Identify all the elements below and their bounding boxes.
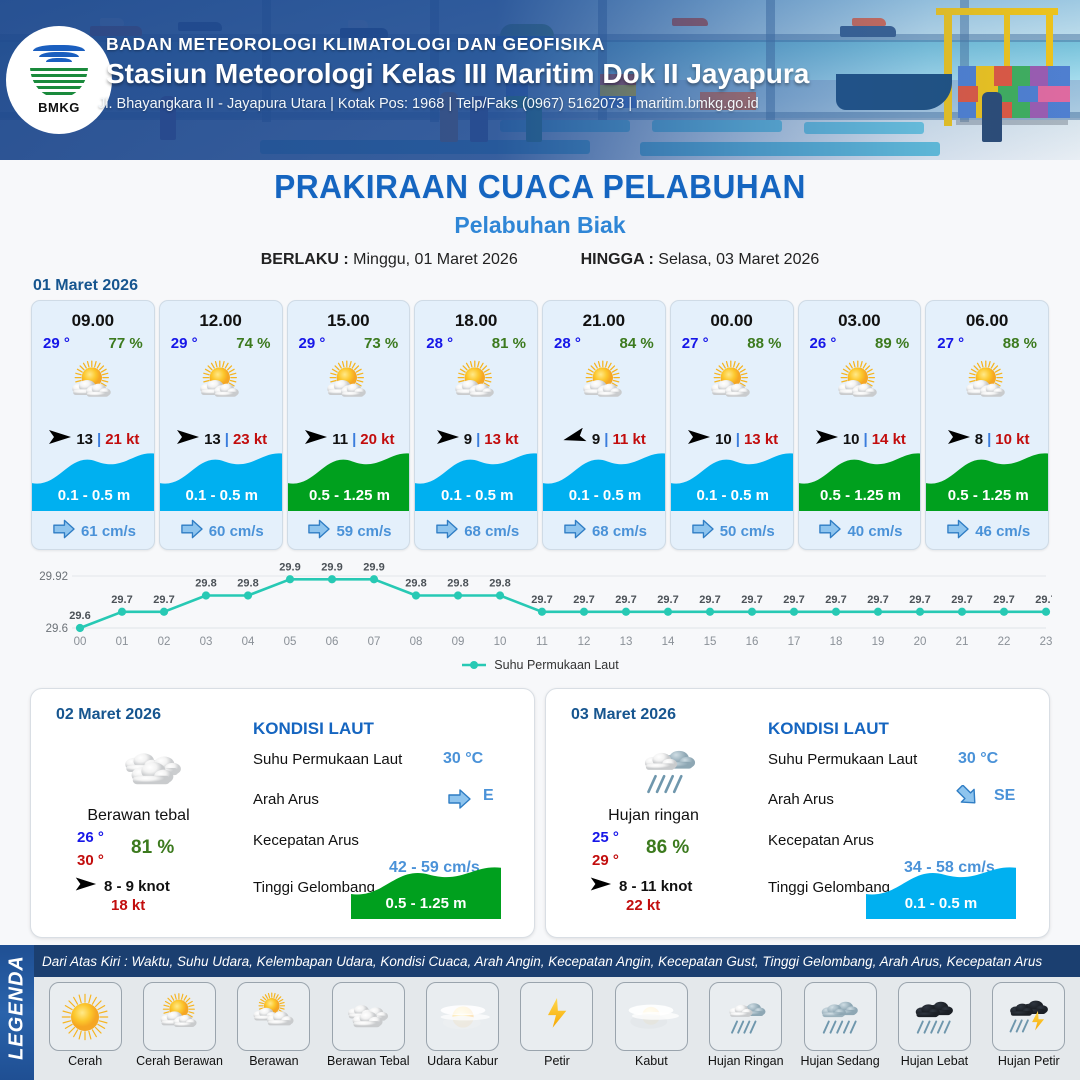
card-temp-hum-row: 27 °88 % [926, 331, 1048, 352]
card-temperature: 29 ° [171, 335, 198, 352]
hingga-value: Selasa, 03 Maret 2026 [658, 251, 819, 268]
card-temperature: 28 ° [554, 335, 581, 352]
udara-kabur-icon [426, 982, 499, 1051]
svg-text:29.7: 29.7 [993, 594, 1014, 606]
svg-text:29.9: 29.9 [279, 561, 300, 573]
legend-item: Cerah Berawan [132, 982, 226, 1069]
day3-temp-max: 29 ° [592, 852, 619, 869]
hujan-lebat-icon [898, 982, 971, 1051]
card-current-speed: 61 cm/s [81, 523, 136, 540]
current-direction-arrow-icon [691, 519, 714, 544]
legend-item-label: Berawan [249, 1055, 298, 1069]
card-temp-hum-row: 29 °73 % [288, 331, 410, 352]
svg-text:23: 23 [1040, 636, 1052, 648]
card-wave-height: 0.5 - 1.25 m [926, 487, 1049, 504]
card-wind-separator: | [864, 431, 868, 448]
day2-current-speed-label: Kecepatan Arus [253, 832, 359, 849]
card-wind-separator: | [736, 431, 740, 448]
svg-text:18: 18 [830, 636, 843, 648]
legend-tab: LEGENDA [0, 945, 34, 1080]
card-humidity: 88 % [1003, 335, 1037, 352]
card-weather-icon [32, 355, 154, 417]
day3-wind-speed: 8 - 11 knot [619, 878, 692, 895]
wind-direction-arrow-icon [813, 428, 839, 451]
day3-date: 03 Maret 2026 [571, 706, 676, 724]
card-current-row: 60 cm/s [160, 519, 283, 544]
card-gust-speed: 21 kt [105, 431, 139, 448]
card-wave-graphic: 0.1 - 0.5 m [160, 453, 283, 511]
svg-text:10: 10 [494, 636, 507, 648]
station-name: Stasiun Meteorologi Kelas III Maritim Do… [106, 58, 809, 90]
svg-text:29.7: 29.7 [909, 594, 930, 606]
card-time: 03.00 [799, 311, 921, 331]
svg-text:03: 03 [200, 636, 213, 648]
card-temperature: 29 ° [299, 335, 326, 352]
svg-text:29.7: 29.7 [741, 594, 762, 606]
card-wave-graphic: 0.5 - 1.25 m [926, 453, 1049, 511]
day2-wind-speed: 8 - 9 knot [104, 878, 170, 895]
card-wind-separator: | [476, 431, 480, 448]
card-time: 12.00 [160, 311, 282, 331]
wind-direction-arrow-icon [588, 875, 612, 898]
legend-item: Berawan [227, 982, 321, 1069]
svg-text:01: 01 [116, 636, 129, 648]
wind-direction-arrow-icon [434, 428, 460, 451]
card-humidity: 89 % [875, 335, 909, 352]
day3-panel: 03 Maret 2026 Hujan ringan 25 ° 29 ° 86 … [545, 688, 1050, 938]
svg-text:06: 06 [326, 636, 339, 648]
card-current-row: 59 cm/s [288, 519, 411, 544]
card-humidity: 73 % [364, 335, 398, 352]
svg-text:05: 05 [284, 636, 297, 648]
card-weather-icon [415, 355, 537, 417]
svg-text:29.7: 29.7 [951, 594, 972, 606]
card-humidity: 81 % [492, 335, 526, 352]
card-wind-speed: 10 [715, 431, 732, 448]
logo-label: BMKG [38, 100, 80, 115]
svg-text:08: 08 [410, 636, 423, 648]
wind-direction-arrow-icon [562, 428, 588, 451]
svg-text:11: 11 [536, 636, 548, 648]
day2-wave-graphic: 0.5 - 1.25 m [351, 867, 501, 919]
legend-item-label: Udara Kabur [427, 1055, 498, 1069]
card-wave-height: 0.1 - 0.5 m [415, 487, 538, 504]
legend-line-marker [461, 659, 487, 671]
title-block: PRAKIRAAN CUACA PELABUHAN Pelabuhan Biak… [0, 168, 1080, 269]
day2-wave-value: 0.5 - 1.25 m [351, 895, 501, 912]
svg-text:29.9: 29.9 [363, 561, 384, 573]
page-subtitle: Pelabuhan Biak [0, 212, 1080, 239]
svg-text:21: 21 [956, 636, 969, 648]
berlaku-value: Minggu, 01 Maret 2026 [353, 251, 518, 268]
sst-chart-panel: 29.9229.629.60029.70129.70229.80329.8042… [28, 558, 1052, 686]
card-wind-row: 11|20 kt [288, 428, 410, 450]
legend-item-label: Petir [544, 1055, 570, 1069]
current-direction-arrow-icon [307, 519, 330, 544]
legend-note: Dari Atas Kiri : Waktu, Suhu Udara, Kele… [34, 954, 1042, 969]
card-time: 15.00 [288, 311, 410, 331]
card-wind-speed: 9 [592, 431, 600, 448]
day2-temp-min: 26 ° [77, 829, 104, 846]
svg-text:29.8: 29.8 [447, 578, 468, 590]
card-current-row: 50 cm/s [671, 519, 794, 544]
forecast-card[interactable]: 12.0029 °74 %13|23 kt0.1 - 0.5 m60 cm/s [159, 300, 283, 550]
card-temperature: 29 ° [43, 335, 70, 352]
kabut-icon [615, 982, 688, 1051]
current-direction-arrow-icon [435, 519, 458, 544]
petir-icon [520, 982, 593, 1051]
card-weather-icon [288, 355, 410, 417]
svg-text:29.7: 29.7 [153, 594, 174, 606]
berlaku-label: BERLAKU : [261, 251, 349, 268]
day2-sst-label: Suhu Permukaan Laut [253, 751, 402, 768]
page-title: PRAKIRAAN CUACA PELABUHAN [22, 168, 1059, 206]
card-wave-height: 0.1 - 0.5 m [671, 487, 794, 504]
card-time: 06.00 [926, 311, 1048, 331]
card-wind-row: 8|10 kt [926, 428, 1048, 450]
card-wind-speed: 9 [464, 431, 472, 448]
legend-icon-list: CerahCerah BerawanBerawanBerawan TebalUd… [34, 977, 1080, 1080]
card-gust-speed: 11 kt [612, 431, 645, 448]
legend-item: Hujan Petir [982, 982, 1076, 1069]
card-wind-row: 13|23 kt [160, 428, 282, 450]
day3-weather-icon [618, 731, 718, 809]
legend-item-label: Hujan Petir [998, 1055, 1060, 1069]
day3-current-speed-label: Kecepatan Arus [768, 832, 874, 849]
card-gust-speed: 13 kt [744, 431, 778, 448]
svg-text:15: 15 [704, 636, 717, 648]
current-direction-arrow-icon [946, 519, 969, 544]
card-weather-icon [543, 355, 665, 417]
card-wind-separator: | [225, 431, 229, 448]
wind-direction-arrow-icon [945, 428, 971, 451]
card-temp-hum-row: 28 °84 % [543, 331, 665, 352]
wind-direction-arrow-icon [174, 428, 200, 451]
svg-text:29.8: 29.8 [489, 578, 510, 590]
legend-section: LEGENDA Dari Atas Kiri : Waktu, Suhu Uda… [0, 945, 1080, 1080]
day3-gust: 22 kt [626, 897, 660, 914]
svg-text:02: 02 [158, 636, 171, 648]
page-header: BMKG BADAN METEOROLOGI KLIMATOLOGI DAN G… [0, 0, 1080, 160]
legend-item-label: Hujan Lebat [901, 1055, 968, 1069]
card-current-speed: 46 cm/s [975, 523, 1030, 540]
bmkg-logo: BMKG [6, 26, 112, 134]
card-temp-hum-row: 29 °74 % [160, 331, 282, 352]
current-direction-arrow-icon [446, 789, 472, 814]
svg-text:29.7: 29.7 [699, 594, 720, 606]
day2-condition: Berawan tebal [31, 807, 246, 825]
card-temperature: 26 ° [810, 335, 837, 352]
card-gust-speed: 23 kt [233, 431, 267, 448]
day3-wave-graphic: 0.1 - 0.5 m [866, 867, 1016, 919]
svg-text:16: 16 [746, 636, 759, 648]
sst-line-chart: 29.9229.629.60029.70129.70229.80329.8042… [28, 558, 1052, 658]
svg-text:14: 14 [662, 636, 675, 648]
day2-weather-icon [103, 731, 203, 809]
legend-item: Hujan Sedang [793, 982, 887, 1069]
card-current-speed: 60 cm/s [209, 523, 264, 540]
card-wind-separator: | [352, 431, 356, 448]
svg-text:29.7: 29.7 [783, 594, 804, 606]
wind-direction-arrow-icon [46, 428, 72, 451]
svg-text:19: 19 [872, 636, 885, 648]
svg-text:29.9: 29.9 [321, 561, 342, 573]
legend-note-strip: Dari Atas Kiri : Waktu, Suhu Udara, Kele… [34, 945, 1080, 977]
forecast-card[interactable]: 09.0029 °77 %13|21 kt0.1 - 0.5 m61 cm/s [31, 300, 155, 550]
svg-text:09: 09 [452, 636, 465, 648]
svg-text:00: 00 [74, 636, 87, 648]
forecast-card[interactable]: 03.0026 °89 %10|14 kt0.5 - 1.25 m40 cm/s [798, 300, 922, 550]
legend-item: Kabut [604, 982, 698, 1069]
legend-item-label: Kabut [635, 1055, 668, 1069]
card-wave-graphic: 0.1 - 0.5 m [671, 453, 794, 511]
legend-item-label: Hujan Sedang [800, 1055, 879, 1069]
card-weather-icon [671, 355, 793, 417]
card-gust-speed: 14 kt [872, 431, 906, 448]
card-current-speed: 50 cm/s [720, 523, 775, 540]
svg-text:29.92: 29.92 [39, 571, 68, 583]
card-wave-graphic: 0.1 - 0.5 m [543, 453, 666, 511]
day3-wind: 8 - 11 knot [588, 875, 692, 898]
card-time: 21.00 [543, 311, 665, 331]
validity-row: BERLAKU : Minggu, 01 Maret 2026 HINGGA :… [0, 251, 1080, 269]
svg-text:17: 17 [788, 636, 801, 648]
day1-date-label: 01 Maret 2026 [33, 277, 138, 295]
day3-sst-label: Suhu Permukaan Laut [768, 751, 917, 768]
legend-item-label: Cerah Berawan [136, 1055, 223, 1069]
card-current-row: 61 cm/s [32, 519, 155, 544]
svg-text:29.7: 29.7 [615, 594, 636, 606]
berawan-icon [237, 982, 310, 1051]
card-wind-row: 10|13 kt [671, 428, 793, 450]
logo-sky-arcs [31, 45, 87, 65]
wind-direction-arrow-icon [685, 428, 711, 451]
hujan-ringan-icon [709, 982, 782, 1051]
current-direction-arrow-icon [954, 785, 980, 810]
day3-sst-value: 30 °C [958, 750, 998, 768]
svg-text:12: 12 [578, 636, 591, 648]
card-wave-height: 0.5 - 1.25 m [799, 487, 922, 504]
card-temperature: 27 ° [682, 335, 709, 352]
svg-text:29.8: 29.8 [237, 578, 258, 590]
card-humidity: 74 % [236, 335, 270, 352]
legend-item: Hujan Lebat [887, 982, 981, 1069]
card-current-row: 40 cm/s [799, 519, 922, 544]
station-address: Jl. Bhayangkara II - Jayapura Utara | Ko… [98, 96, 759, 112]
card-current-speed: 68 cm/s [464, 523, 519, 540]
legend-item: Udara Kabur [415, 982, 509, 1069]
card-wave-height: 0.1 - 0.5 m [32, 487, 155, 504]
day2-wind: 8 - 9 knot [73, 875, 170, 898]
current-direction-arrow-icon [180, 519, 203, 544]
day2-humidity: 81 % [131, 837, 174, 859]
legend-item: Petir [510, 982, 604, 1069]
card-weather-icon [926, 355, 1048, 417]
card-time: 09.00 [32, 311, 154, 331]
card-temp-hum-row: 29 °77 % [32, 331, 154, 352]
day2-sea-title: KONDISI LAUT [253, 719, 374, 739]
legend-item: Hujan Ringan [699, 982, 793, 1069]
legend-item-label: Berawan Tebal [327, 1055, 409, 1069]
svg-text:13: 13 [620, 636, 633, 648]
card-wind-row: 10|14 kt [799, 428, 921, 450]
svg-text:07: 07 [368, 636, 381, 648]
card-current-row: 68 cm/s [543, 519, 666, 544]
svg-text:29.7: 29.7 [531, 594, 552, 606]
card-wind-separator: | [604, 431, 608, 448]
day2-temp-max: 30 ° [77, 852, 104, 869]
card-gust-speed: 10 kt [995, 431, 1029, 448]
card-wave-graphic: 0.1 - 0.5 m [415, 453, 538, 511]
legend-item-label: Cerah [68, 1055, 102, 1069]
card-wave-graphic: 0.5 - 1.25 m [288, 453, 411, 511]
day3-humidity: 86 % [646, 837, 689, 859]
card-current-row: 46 cm/s [926, 519, 1049, 544]
card-gust-speed: 20 kt [360, 431, 394, 448]
card-wind-row: 9|11 kt [543, 428, 665, 450]
card-wave-height: 0.5 - 1.25 m [288, 487, 411, 504]
day3-condition: Hujan ringan [546, 807, 761, 825]
card-temp-hum-row: 27 °88 % [671, 331, 793, 352]
forecast-card[interactable]: 15.0029 °73 %11|20 kt0.5 - 1.25 m59 cm/s [287, 300, 411, 550]
forecast-card[interactable]: 00.0027 °88 %10|13 kt0.1 - 0.5 m50 cm/s [670, 300, 794, 550]
card-humidity: 77 % [109, 335, 143, 352]
card-current-speed: 68 cm/s [592, 523, 647, 540]
agency-name: BADAN METEOROLOGI KLIMATOLOGI DAN GEOFIS… [106, 34, 605, 55]
hujan-sedang-icon [804, 982, 877, 1051]
card-wave-graphic: 0.1 - 0.5 m [32, 453, 155, 511]
day2-current-dir-value: E [483, 787, 494, 805]
svg-text:29.6: 29.6 [46, 623, 68, 635]
legend-item: Cerah [38, 982, 132, 1069]
current-direction-arrow-icon [52, 519, 75, 544]
card-temp-hum-row: 28 °81 % [415, 331, 537, 352]
day3-current-dir-value: SE [994, 787, 1015, 805]
current-direction-arrow-icon [818, 519, 841, 544]
card-current-speed: 40 cm/s [847, 523, 902, 540]
current-direction-arrow-icon [563, 519, 586, 544]
card-wind-row: 9|13 kt [415, 428, 537, 450]
forecast-card[interactable]: 21.0028 °84 %9|11 kt0.1 - 0.5 m68 cm/s [542, 300, 666, 550]
card-weather-icon [160, 355, 282, 417]
legend-label: Suhu Permukaan Laut [494, 658, 618, 672]
card-wave-height: 0.1 - 0.5 m [160, 487, 283, 504]
svg-text:29.6: 29.6 [69, 610, 90, 622]
wind-direction-arrow-icon [73, 875, 97, 898]
hourly-forecast-strip: 09.0029 °77 %13|21 kt0.1 - 0.5 m61 cm/s1… [31, 300, 1049, 550]
svg-text:29.7: 29.7 [867, 594, 888, 606]
day3-temp-min: 25 ° [592, 829, 619, 846]
card-wind-row: 13|21 kt [32, 428, 154, 450]
svg-text:29.7: 29.7 [825, 594, 846, 606]
card-wind-speed: 8 [975, 431, 983, 448]
hujan-petir-icon [992, 982, 1065, 1051]
card-temperature: 28 ° [426, 335, 453, 352]
svg-text:29.7: 29.7 [573, 594, 594, 606]
day3-sea-title: KONDISI LAUT [768, 719, 889, 739]
day2-panel: 02 Maret 2026 Berawan tebal 26 ° 30 ° 81… [30, 688, 535, 938]
day2-date: 02 Maret 2026 [56, 706, 161, 724]
day2-current-dir-label: Arah Arus [253, 791, 319, 808]
svg-text:04: 04 [242, 636, 255, 648]
card-gust-speed: 13 kt [484, 431, 518, 448]
hingga-label: HINGGA : [581, 251, 654, 268]
legend-item: Berawan Tebal [321, 982, 415, 1069]
card-humidity: 84 % [620, 335, 654, 352]
svg-text:29.8: 29.8 [405, 578, 426, 590]
card-temperature: 27 ° [937, 335, 964, 352]
forecast-card[interactable]: 18.0028 °81 %9|13 kt0.1 - 0.5 m68 cm/s [414, 300, 538, 550]
svg-text:20: 20 [914, 636, 927, 648]
cerah-berawan-icon [143, 982, 216, 1051]
card-time: 18.00 [415, 311, 537, 331]
legend-item-label: Hujan Ringan [708, 1055, 784, 1069]
card-wave-graphic: 0.5 - 1.25 m [799, 453, 922, 511]
card-wind-speed: 11 [332, 431, 348, 448]
svg-text:29.7: 29.7 [657, 594, 678, 606]
legend-tab-label: LEGENDA [6, 940, 29, 1076]
chart-legend: Suhu Permukaan Laut [28, 658, 1052, 672]
svg-text:29.7: 29.7 [1035, 594, 1052, 606]
day3-current-dir-label: Arah Arus [768, 791, 834, 808]
berawan-tebal-icon [332, 982, 405, 1051]
svg-text:29.8: 29.8 [195, 578, 216, 590]
card-temp-hum-row: 26 °89 % [799, 331, 921, 352]
day3-wave-value: 0.1 - 0.5 m [866, 895, 1016, 912]
card-current-row: 68 cm/s [415, 519, 538, 544]
logo-green-arcs [30, 66, 88, 98]
card-wind-separator: | [987, 431, 991, 448]
card-humidity: 88 % [747, 335, 781, 352]
card-wind-speed: 10 [843, 431, 860, 448]
forecast-card[interactable]: 06.0027 °88 %8|10 kt0.5 - 1.25 m46 cm/s [925, 300, 1049, 550]
svg-text:22: 22 [998, 636, 1011, 648]
card-wave-height: 0.1 - 0.5 m [543, 487, 666, 504]
card-time: 00.00 [671, 311, 793, 331]
card-wind-speed: 13 [76, 431, 93, 448]
card-current-speed: 59 cm/s [336, 523, 391, 540]
card-wind-separator: | [97, 431, 101, 448]
day2-sst-value: 30 °C [443, 750, 483, 768]
cerah-icon [49, 982, 122, 1051]
wind-direction-arrow-icon [302, 428, 328, 451]
day2-gust: 18 kt [111, 897, 145, 914]
card-weather-icon [799, 355, 921, 417]
card-wind-speed: 13 [204, 431, 221, 448]
svg-text:29.7: 29.7 [111, 594, 132, 606]
